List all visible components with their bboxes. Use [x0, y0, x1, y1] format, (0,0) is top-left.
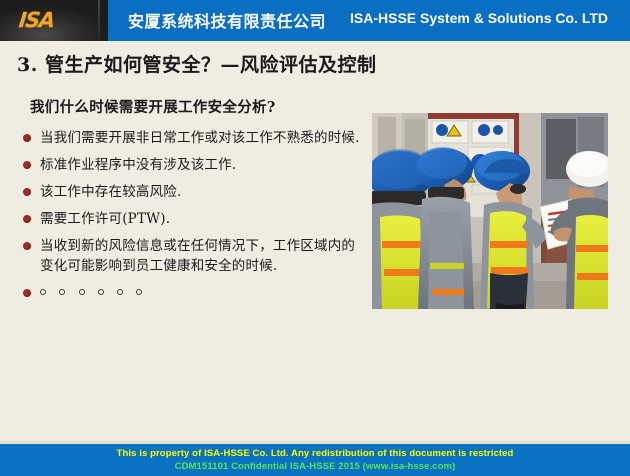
list-item-label: 当我们需要开展非日常工作或对该工作不熟悉的时候.	[40, 128, 360, 148]
safety-briefing-photo	[372, 113, 608, 309]
photo-illustration	[372, 113, 608, 309]
bullet-dot-icon	[23, 134, 31, 142]
bullet-dot-icon	[23, 215, 31, 223]
list-item: 当收到新的风险信息或在任何情况下，工作区域内的变化可能影响到员工健康和安全的时候…	[12, 236, 360, 276]
ellipsis-dot-icon	[40, 289, 46, 295]
logo-panel: ISA	[0, 0, 108, 41]
ellipsis-dot-icon	[59, 289, 65, 295]
isa-logo: ISA	[18, 8, 55, 32]
bullet-dot-icon	[23, 188, 31, 196]
slide-canvas: ISA 安厦系统科技有限责任公司 ISA-HSSE System & Solut…	[0, 0, 630, 476]
bullet-dot-icon	[23, 161, 31, 169]
list-item-label: 该工作中存在较高风险.	[40, 182, 360, 202]
ellipsis-dot-icon	[79, 289, 85, 295]
bullet-dot-icon	[23, 289, 31, 297]
list-item-label: 标准作业程序中没有涉及该工作.	[40, 155, 360, 175]
bullet-dot-icon	[23, 242, 31, 250]
section-subheading: 我们什么时候需要开展工作安全分析?	[30, 96, 360, 117]
company-name-chinese: 安厦系统科技有限责任公司	[128, 8, 326, 32]
content-column: 我们什么时候需要开展工作安全分析? 当我们需要开展非日常工作或对该工作不熟悉的时…	[12, 96, 360, 310]
list-item-label: 当收到新的风险信息或在任何情况下，工作区域内的变化可能影响到员工健康和安全的时候…	[40, 236, 360, 276]
company-name-english: ISA-HSSE System & Solutions Co. LTD	[350, 10, 608, 26]
bullet-list: 当我们需要开展非日常工作或对该工作不熟悉的时候. 标准作业程序中没有涉及该工作.…	[12, 128, 360, 303]
list-item-label: 需要工作许可(PTW).	[40, 209, 360, 229]
footer-document-id: CDM151101 Confidential ISA-HSSE 2015 (ww…	[0, 461, 630, 472]
ellipsis-dot-icon	[98, 289, 104, 295]
list-item-ellipsis	[12, 283, 360, 303]
ellipsis-marks	[40, 283, 149, 303]
slide-footer: This is property of ISA-HSSE Co. Ltd. An…	[0, 444, 630, 476]
list-item: 该工作中存在较高风险.	[12, 182, 360, 202]
list-item: 标准作业程序中没有涉及该工作.	[12, 155, 360, 175]
slide-header: ISA 安厦系统科技有限责任公司 ISA-HSSE System & Solut…	[0, 0, 630, 41]
ellipsis-dot-icon	[136, 289, 142, 295]
list-item: 当我们需要开展非日常工作或对该工作不熟悉的时候.	[12, 128, 360, 148]
list-item: 需要工作许可(PTW).	[12, 209, 360, 229]
ellipsis-dot-icon	[117, 289, 123, 295]
page-title: 3. 管生产如何管安全？—风险评估及控制	[17, 50, 376, 77]
footer-copyright-notice: This is property of ISA-HSSE Co. Ltd. An…	[0, 448, 630, 459]
